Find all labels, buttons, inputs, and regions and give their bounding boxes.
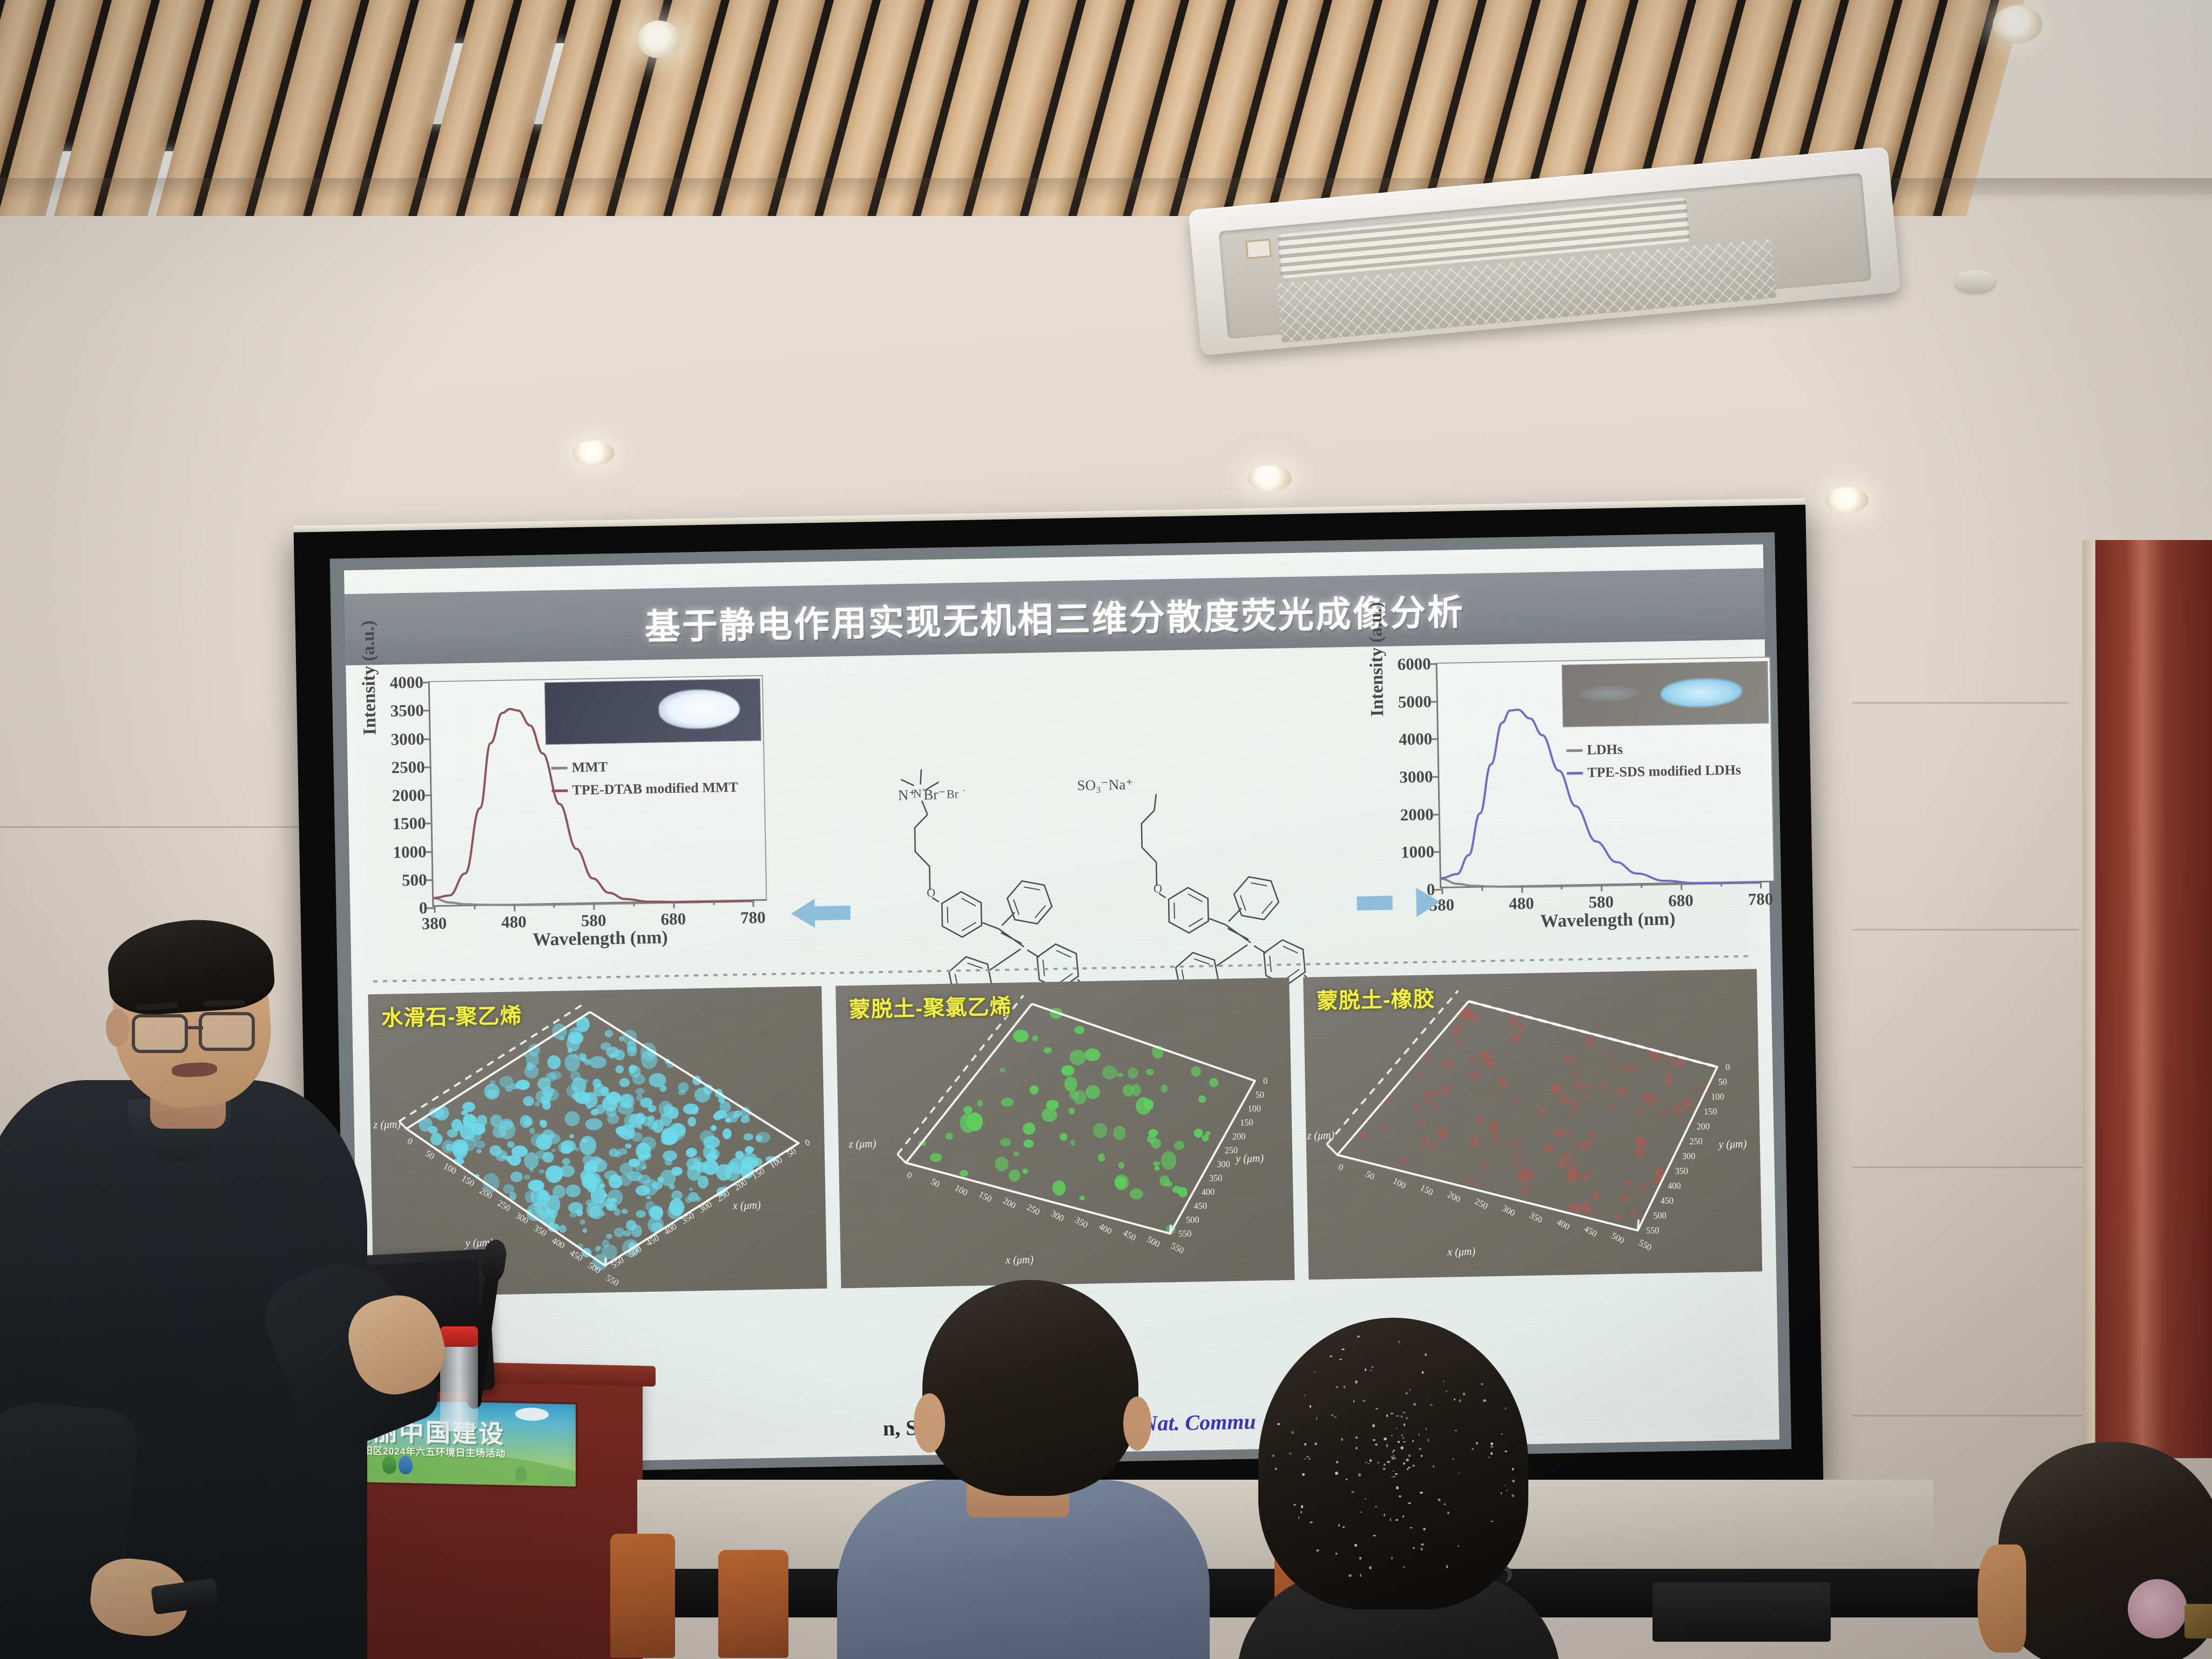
bond: [1154, 794, 1157, 811]
box-edge: [1170, 1225, 1171, 1233]
fluorescent-particle: [582, 1228, 587, 1233]
fluorescent-particle: [1469, 1136, 1481, 1147]
hair-bead: [1413, 1547, 1415, 1549]
fluorescent-particle: [475, 1141, 485, 1149]
chart-series-line: [430, 705, 753, 908]
chart-y-tick-label: 4000: [1399, 730, 1433, 750]
audience-member-bun-hair: [1226, 1318, 1561, 1659]
bond: [1251, 882, 1267, 886]
hair-bead: [1481, 1383, 1483, 1385]
hair-bead: [1506, 1490, 1508, 1491]
fluorescent-particle: [1198, 1095, 1206, 1103]
fluorescent-particle: [476, 1149, 482, 1154]
panel-label: 水滑石-聚乙烯: [381, 998, 522, 1032]
axis-tick-label: 100: [1247, 1103, 1261, 1114]
axis-tick-label: 100: [953, 1182, 969, 1198]
panel-mmt-pvc: 蒙脱土-聚氯乙烯 0050501001001501502002002502503…: [835, 977, 1294, 1288]
fluorescent-particle: [1488, 1122, 1500, 1132]
fluorescent-particle: [1400, 1115, 1405, 1119]
wall-seam: [1852, 1166, 2085, 1168]
fluorescent-particle: [723, 1128, 732, 1139]
bond: [932, 898, 939, 902]
fluorescent-particle: [1380, 1126, 1387, 1131]
mascot-blue-icon: [399, 1456, 413, 1475]
fluorescent-particle: [1475, 1184, 1480, 1188]
hair-bead: [1422, 1371, 1424, 1374]
hair-bead: [1491, 1452, 1493, 1455]
box-edge: [1327, 1144, 1337, 1155]
fluorescent-particle: [1398, 1158, 1409, 1165]
slide-3d-panels: 水滑石-聚乙烯 00505010010015015020020025025030…: [368, 969, 1762, 1297]
hair-bead: [1446, 1391, 1447, 1392]
bond: [1228, 928, 1248, 940]
hair-bead: [1310, 1405, 1311, 1408]
axis-tick-label: 300: [1682, 1151, 1696, 1162]
hair-bead: [1420, 1492, 1423, 1494]
fluorescent-particle: [1570, 1069, 1581, 1080]
fluorescent-particle: [1553, 1129, 1564, 1138]
fluorescent-particle: [1161, 1084, 1168, 1092]
fluorescent-particle: [1476, 1115, 1485, 1124]
chart-x-tick: [673, 901, 675, 908]
bond: [1001, 932, 1021, 944]
box-edge: [1637, 1219, 1638, 1230]
chart-y-tick: [426, 879, 434, 881]
hair-bead: [1401, 1434, 1402, 1436]
fluorescent-particle: [580, 1219, 585, 1225]
bond: [922, 800, 927, 814]
hair-bead: [1377, 1462, 1380, 1464]
hair-bead: [1336, 1461, 1338, 1464]
fluorescent-particle: [614, 1228, 625, 1238]
hair-bead: [1403, 1441, 1406, 1442]
fluorescent-particle: [606, 1233, 612, 1239]
fluorescent-particle: [1517, 1169, 1529, 1183]
hair-bead: [1357, 1336, 1360, 1338]
axis-name-label: x (μm): [1447, 1246, 1475, 1258]
hair-bead: [1391, 1435, 1393, 1436]
hair-bead: [1316, 1417, 1317, 1420]
bond: [1229, 908, 1242, 921]
atom-label: +: [921, 785, 926, 793]
audience-ear: [1123, 1397, 1151, 1451]
axis-tick-label: 150: [1240, 1117, 1253, 1128]
fluorescent-particle: [1161, 1151, 1177, 1170]
conference-speaker-device: [1653, 1582, 1831, 1642]
chart-x-tick-label: 480: [1509, 894, 1534, 914]
hair-bead: [1406, 1417, 1408, 1419]
bond: [1174, 902, 1175, 919]
hair-bead: [1402, 1515, 1404, 1518]
fluorescent-particle: [524, 1175, 530, 1180]
chart-x-tick: [753, 899, 754, 907]
fluorescent-particle: [551, 1149, 556, 1152]
hair-bead: [1512, 1480, 1515, 1482]
hair-bead: [1384, 1514, 1385, 1516]
hair-bead: [1425, 1353, 1427, 1356]
fluorescent-particle: [1543, 1143, 1555, 1151]
axis-tick-label: 250: [1473, 1196, 1489, 1211]
hair-bead: [1316, 1549, 1319, 1552]
hair-bead: [1491, 1442, 1493, 1445]
hair-bead: [1472, 1448, 1474, 1450]
hair-bead: [1512, 1494, 1514, 1497]
fluorescent-particle: [1433, 1091, 1438, 1097]
hair-bead: [1421, 1543, 1424, 1546]
fluorescent-particle: [1437, 1128, 1448, 1138]
hair-bead: [1334, 1417, 1337, 1418]
hair-bead: [1384, 1464, 1386, 1466]
axis-tick-label: 450: [1661, 1195, 1674, 1206]
hair-bead: [1275, 1468, 1277, 1470]
fluorescent-particle: [1029, 1085, 1038, 1095]
hair-bead: [1309, 1458, 1311, 1460]
hair-bead: [1412, 1465, 1415, 1467]
hair-bead: [1310, 1521, 1313, 1523]
axis-tick-label: 550: [1169, 1240, 1185, 1256]
hair-bead: [1365, 1368, 1366, 1371]
axis-tick-label: 400: [1097, 1221, 1114, 1237]
axis-tick-label: 400: [1555, 1217, 1572, 1232]
hair-scrunchie: [2128, 1579, 2187, 1638]
hair-bead: [1423, 1528, 1426, 1530]
fluorescent-particle: [1414, 1070, 1423, 1078]
axis-tick-label: 450: [1582, 1223, 1599, 1239]
axis-tick-label: 550: [1178, 1228, 1192, 1239]
fluorescent-particle: [1069, 1050, 1085, 1065]
fluorescent-particle: [646, 1196, 651, 1199]
fluorescent-particle: [1118, 1162, 1124, 1169]
fluorescent-particle: [1013, 1029, 1029, 1042]
fluorescent-particle: [1537, 1113, 1545, 1119]
chart-x-tick: [1521, 885, 1523, 893]
axis-tick-label: 400: [1202, 1186, 1215, 1197]
axis-tick-label: 500: [1186, 1214, 1199, 1225]
fluorescent-particle: [1580, 1202, 1591, 1215]
atom-label: -: [963, 786, 966, 794]
column-trim: [2082, 540, 2094, 1458]
atom-label: Br: [947, 787, 959, 800]
hair-bead: [1410, 1388, 1411, 1391]
fluorescent-particle: [636, 1088, 645, 1094]
audience-member-blue-shirt: [832, 1285, 1210, 1659]
fluorescent-particle: [1001, 1097, 1014, 1107]
hair-bead: [1370, 1459, 1372, 1462]
hair-bead: [1443, 1380, 1444, 1382]
chart-y-tick: [1429, 663, 1437, 665]
hair-bead: [1304, 1395, 1305, 1396]
axis-tick-label: 0: [1337, 1162, 1345, 1173]
wall-seam: [0, 826, 335, 828]
fluorescent-particle: [1194, 1129, 1203, 1138]
hair-bead: [1447, 1512, 1449, 1514]
fluorescent-particle: [1423, 1090, 1432, 1096]
chart-left-ylabel: Intensity (a.u.): [358, 620, 381, 735]
hair-bead: [1354, 1544, 1357, 1547]
hair-bead: [1355, 1447, 1358, 1449]
axis-tick-label: 400: [662, 1221, 678, 1237]
hair-bead: [1393, 1449, 1395, 1452]
bond: [1194, 959, 1210, 965]
chart-x-tick: [594, 902, 595, 910]
fluorescent-particle: [1520, 1186, 1529, 1194]
axis-name-label: x (μm): [1005, 1254, 1034, 1266]
fluorescent-particle: [1061, 1065, 1075, 1076]
fluorescent-particle: [1518, 1024, 1525, 1031]
axis-tick-label: 150: [977, 1189, 994, 1204]
fluorescent-particle: [1509, 1020, 1518, 1026]
panel-label: 蒙脱土-聚氯乙烯: [848, 989, 1011, 1024]
fluorescent-particle: [1584, 1096, 1589, 1101]
fluorescent-particle: [534, 1102, 540, 1107]
fluorescent-particle: [1064, 1076, 1078, 1091]
fluorescent-particle: [1440, 1084, 1451, 1095]
bond: [982, 922, 999, 929]
hair-bead: [1444, 1503, 1446, 1505]
hair-bead: [1375, 1408, 1378, 1410]
hair-bead: [1428, 1439, 1429, 1442]
hair-bead: [1306, 1456, 1309, 1458]
fluorescent-particle: [1079, 1196, 1085, 1201]
axis-tick-label: 150: [1704, 1106, 1717, 1117]
hair-bead: [1353, 1400, 1354, 1402]
axis-tick-label: 350: [1528, 1210, 1544, 1225]
chart-x-tick: [1601, 884, 1602, 892]
axis-tick-label: 300: [1217, 1159, 1230, 1170]
downlight: [1247, 466, 1292, 491]
fluorescent-particle: [1453, 1041, 1464, 1050]
fluorescent-particle: [1360, 1131, 1368, 1139]
fluorescent-particle: [1637, 1182, 1647, 1194]
presenter-hair: [105, 915, 276, 1018]
fluorescent-particle: [1510, 1140, 1516, 1146]
hair-bead: [1501, 1492, 1502, 1494]
fluorescent-particle: [566, 1184, 581, 1197]
hair-bead: [1413, 1403, 1416, 1406]
fluorescent-particle: [1041, 1108, 1057, 1122]
hair-bead: [1358, 1473, 1361, 1476]
hair-bead: [1458, 1473, 1460, 1474]
hair-bead: [1375, 1506, 1377, 1508]
hair-bead: [1372, 1424, 1375, 1427]
bond: [926, 782, 939, 790]
wall-wood-column: [2095, 540, 2212, 1458]
fluorescent-particle: [1660, 1108, 1669, 1118]
fluorescent-particle: [1580, 1141, 1589, 1150]
panel-2-plot: 0050501001001501502002002502503003003503…: [1303, 969, 1762, 1279]
fluorescent-particle: [743, 1133, 753, 1141]
chart-left: Intensity (a.u.) MMT: [365, 668, 791, 967]
hair-bead: [1277, 1423, 1280, 1425]
audience-chair: [718, 1550, 788, 1658]
hair-bead: [1386, 1414, 1388, 1417]
hair-bead: [1505, 1451, 1507, 1452]
fluorescent-particle: [1629, 1190, 1634, 1195]
fluorescent-particle: [1483, 1162, 1489, 1169]
hair-bead: [1501, 1433, 1503, 1435]
fluorescent-particle: [1624, 1180, 1630, 1185]
axis-tick-label: 50: [785, 1145, 798, 1159]
chart-y-tick-label: 2000: [392, 785, 426, 805]
building-icon: [548, 1469, 569, 1484]
fluorescent-particle: [559, 1225, 567, 1233]
chart-y-tick: [425, 822, 433, 824]
fluorescent-particle: [615, 1065, 624, 1073]
bottle-cap: [440, 1326, 478, 1347]
axis-name-label: y (μm): [1717, 1138, 1746, 1150]
chart-y-tick: [426, 851, 433, 853]
chart-x-tick: [1721, 881, 1722, 886]
axis-tick-label: 200: [1232, 1131, 1246, 1142]
chart-x-tick: [514, 903, 515, 911]
hair-bead: [1404, 1424, 1405, 1426]
hair-bead: [1488, 1456, 1490, 1458]
fluorescent-particle: [1069, 1108, 1075, 1114]
downlight: [637, 21, 680, 58]
chart-y-tick-label: 5000: [1398, 692, 1432, 712]
axis-tick-label: 0: [1725, 1062, 1730, 1073]
fluorescent-particle: [1000, 1068, 1006, 1073]
hair-bead: [1491, 1521, 1493, 1522]
particle-cloud: [916, 1005, 1221, 1239]
chart-x-tick: [1641, 883, 1642, 888]
fluorescent-particle: [516, 1080, 530, 1090]
fluorescent-particle: [1617, 1087, 1628, 1095]
fluorescent-particle: [1635, 1147, 1644, 1157]
fluorescent-particle: [1358, 1149, 1365, 1154]
fluorescent-particle: [995, 1157, 1008, 1172]
fluorescent-particle: [1665, 1071, 1671, 1077]
fluorescent-particle: [1043, 1047, 1051, 1054]
audience-chair: [610, 1534, 675, 1658]
chart-x-tick: [1481, 886, 1483, 891]
fluorescent-particle: [1551, 1084, 1560, 1095]
fluorescent-particle: [1610, 1060, 1615, 1066]
wall-seam: [1852, 702, 2068, 704]
hair-bead: [1426, 1428, 1427, 1430]
fluorescent-particle: [569, 1134, 574, 1138]
presenter-ear: [106, 1009, 130, 1047]
chart-y-tick: [422, 682, 430, 683]
chart-y-tick-label: 1500: [392, 814, 426, 834]
fluorescent-particle: [529, 1128, 535, 1134]
hair-bead: [1505, 1407, 1506, 1410]
hair-bead: [1405, 1392, 1408, 1394]
fluorescent-particle: [1566, 1131, 1571, 1137]
fluorescent-particle: [562, 1158, 570, 1165]
fluorescent-particle: [1563, 1054, 1575, 1063]
particle-cloud: [417, 1013, 779, 1274]
chart-y-tick: [423, 738, 431, 740]
atom-label: O: [927, 886, 935, 899]
hair-bead: [1446, 1565, 1448, 1568]
hair-bead: [1336, 1553, 1337, 1555]
fluorescent-particle: [1490, 1133, 1501, 1142]
fluorescent-particle: [1130, 1188, 1143, 1199]
axis-name-label: x (μm): [732, 1199, 761, 1212]
hair-bead: [1369, 1566, 1372, 1569]
fluorescent-particle: [689, 1188, 693, 1191]
fluorescent-particle: [1013, 1151, 1019, 1157]
hair-bead: [1410, 1527, 1413, 1528]
hair-bead: [1387, 1461, 1390, 1463]
hair-bead: [1298, 1516, 1299, 1519]
bond: [1216, 945, 1248, 966]
fluorescent-particle: [1052, 1180, 1065, 1196]
hair-bead: [1383, 1468, 1385, 1470]
chart-left-curves: [430, 676, 769, 908]
hair-bead: [1463, 1393, 1465, 1395]
fluorescent-particle: [1070, 1139, 1076, 1145]
bond: [947, 907, 948, 923]
hair-bead: [1360, 1512, 1362, 1513]
chart-y-tick-label: 6000: [1397, 654, 1431, 674]
hair-bead: [1348, 1574, 1352, 1577]
fluorescent-particle: [1093, 1123, 1108, 1138]
fluorescent-particle: [1586, 1083, 1592, 1089]
hair-bead: [1399, 1495, 1401, 1498]
fluorescent-particle: [1022, 1169, 1028, 1174]
hair-bead: [1512, 1468, 1514, 1471]
hair-bead: [1390, 1518, 1391, 1521]
chart-x-tick-label: 680: [660, 909, 686, 929]
axis-tick-label: 300: [1501, 1203, 1517, 1218]
hair-bead: [1454, 1399, 1455, 1400]
water-bottle: [440, 1339, 478, 1431]
atom-label: O: [1154, 881, 1162, 895]
chart-x-tick: [1441, 887, 1443, 894]
hair-bead: [1421, 1455, 1422, 1457]
hair-bead: [1301, 1505, 1303, 1508]
bond: [1024, 887, 1040, 891]
hair-bead: [1344, 1386, 1345, 1388]
fluorescent-particle: [579, 1136, 597, 1155]
hair-bead: [1401, 1415, 1402, 1418]
fluorescent-particle: [1611, 1104, 1615, 1108]
axis-name-label: z (μm): [1306, 1129, 1334, 1142]
axis-tick-label: 0: [406, 1136, 414, 1147]
chart-x-tick: [474, 905, 475, 909]
hair-bead: [1351, 1491, 1354, 1493]
hair-bead: [1291, 1431, 1294, 1434]
fluorescent-particle: [1417, 1119, 1426, 1129]
fluorescent-particle: [1630, 1210, 1640, 1220]
hair-clip-icon: [2184, 1604, 2212, 1638]
axis-tick-label: 550: [1637, 1237, 1653, 1253]
chain: [1141, 811, 1157, 886]
chair-back-edge: [1978, 1545, 2026, 1653]
box-edge: [898, 1154, 906, 1163]
hair-bead: [1395, 1473, 1398, 1475]
hair-bead: [1476, 1442, 1478, 1445]
downlight: [572, 441, 615, 466]
panel-1-plot: 0050501001001501502002002502503003003503…: [835, 977, 1294, 1288]
fluorescent-particle: [585, 1118, 603, 1130]
fluorescent-particle: [1631, 1065, 1640, 1073]
fluorescent-particle: [1191, 1066, 1201, 1077]
slide-title: 基于静电作用实现无机相三维分散度荧光成像分析: [644, 583, 1465, 650]
axis-tick-label: 350: [1073, 1215, 1089, 1230]
fluorescent-particle: [564, 1111, 580, 1126]
fluorescent-particle: [1009, 1169, 1021, 1182]
axis-tick-label: 550: [1646, 1225, 1660, 1236]
smoke-detector-icon: [1955, 270, 1995, 292]
fluorescent-particle: [1510, 1034, 1522, 1042]
hair-bead: [1491, 1446, 1493, 1448]
box-edge: [605, 1258, 606, 1265]
chart-right-xlabel: Wavelength (nm): [1440, 907, 1776, 934]
panel-mmt-rubber: 蒙脱土-橡胶 005050100100150150200200250250300…: [1303, 969, 1762, 1279]
